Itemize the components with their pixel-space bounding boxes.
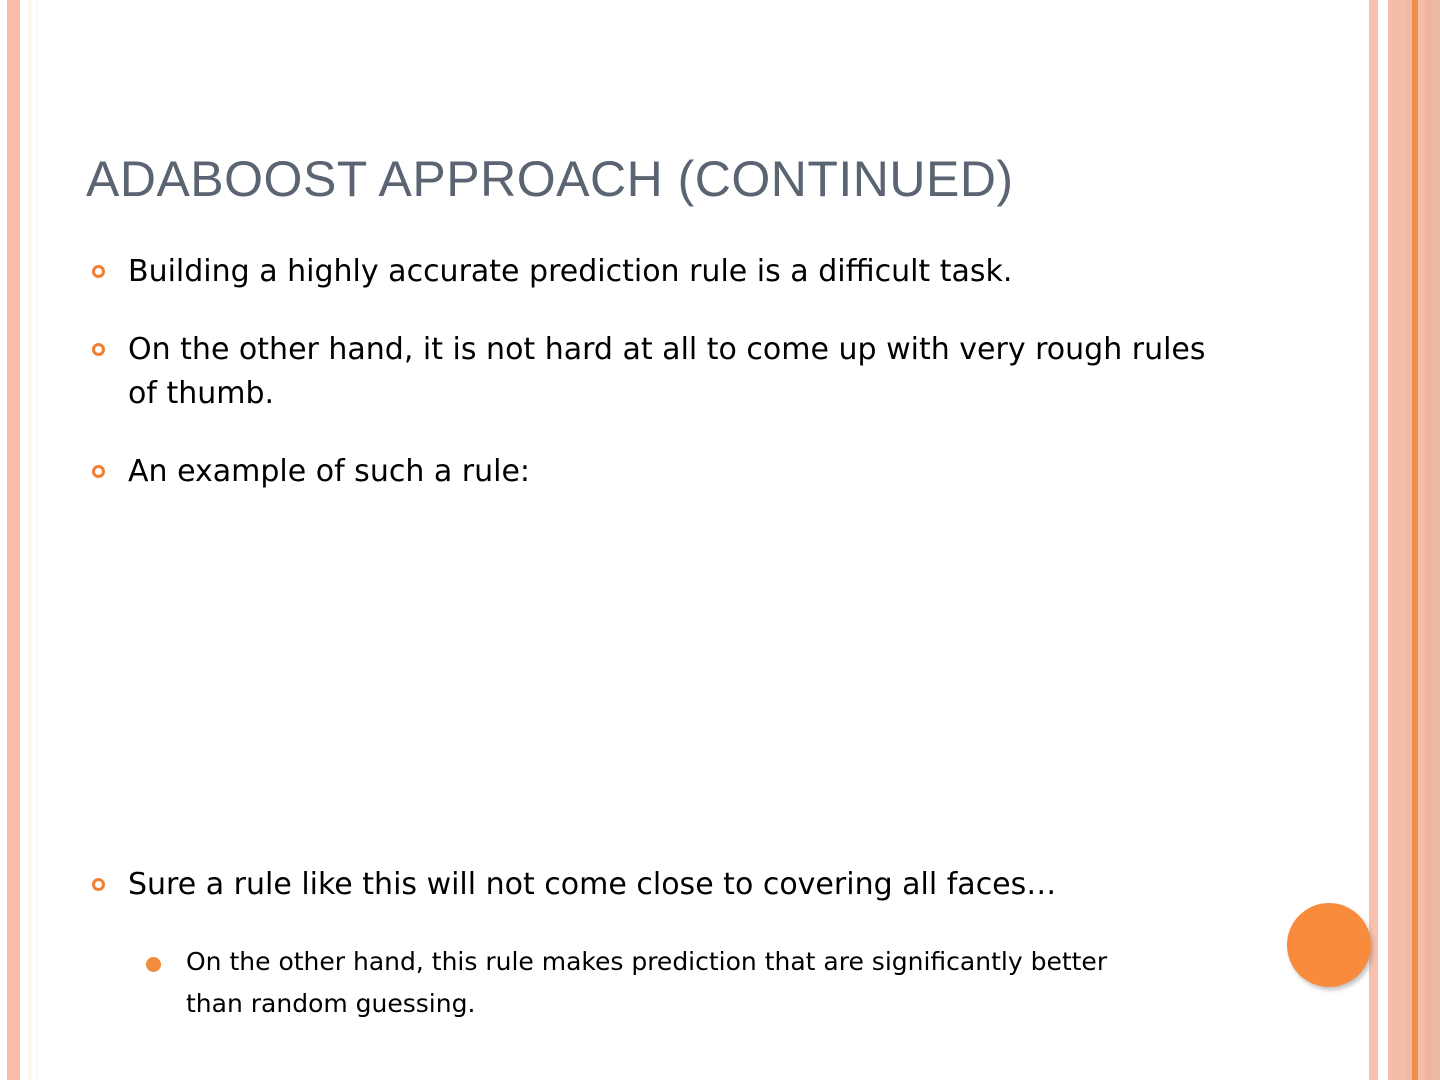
- bullet-item-4: Sure a rule like this will not come clos…: [0, 863, 1300, 907]
- bullet-text-1: Building a highly accurate prediction ru…: [128, 250, 1238, 294]
- right-decor-band-6: [1431, 0, 1440, 1080]
- example-rule-block: If is present, then p: [0, 585, 1300, 855]
- hollow-circle-bullet-icon: [92, 465, 105, 478]
- slide-canvas: ADABOOST APPROACH (CONTINUED) Building a…: [0, 0, 1440, 1080]
- sub-bullet-text: On the other hand, this rule makes predi…: [186, 941, 1146, 1025]
- filled-dot-bullet-icon: [146, 957, 161, 972]
- bullet-text-4: Sure a rule like this will not come clos…: [128, 863, 1238, 907]
- decorative-orange-circle: [1287, 903, 1371, 987]
- right-decor-band-2: [1388, 0, 1406, 1080]
- slide-body: Building a highly accurate prediction ru…: [0, 250, 1300, 528]
- slide-body-lower: Sure a rule like this will not come clos…: [0, 863, 1300, 1025]
- hollow-circle-bullet-icon: [92, 878, 105, 891]
- bullet-item-3: An example of such a rule:: [0, 450, 1300, 494]
- slide-title: ADABOOST APPROACH (CONTINUED): [86, 148, 1286, 210]
- bullet-item-1: Building a highly accurate prediction ru…: [0, 250, 1300, 294]
- hollow-circle-bullet-icon: [92, 265, 105, 278]
- bullet-text-3: An example of such a rule:: [128, 450, 1238, 494]
- right-decor-band-1: [1369, 0, 1378, 1080]
- bullet-item-2: On the other hand, it is not hard at all…: [0, 328, 1300, 416]
- right-decor-band-gap: [1378, 0, 1388, 1080]
- right-decor-band-4: [1418, 0, 1425, 1080]
- bullet-text-2: On the other hand, it is not hard at all…: [128, 328, 1238, 416]
- hollow-circle-bullet-icon: [92, 343, 105, 356]
- sub-bullet-item: On the other hand, this rule makes predi…: [0, 941, 1300, 1025]
